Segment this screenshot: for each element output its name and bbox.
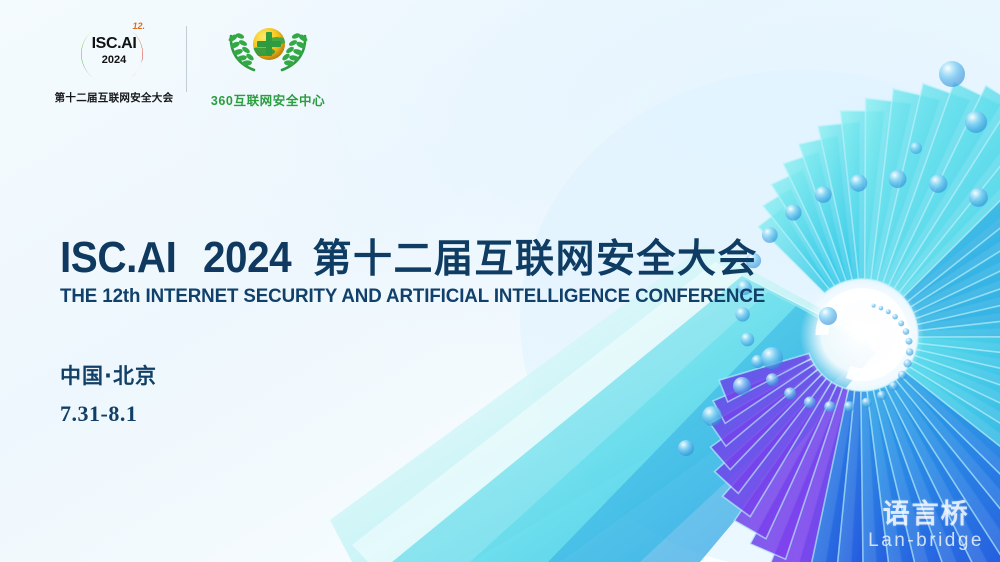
headline-subtitle-en: THE 12th INTERNET SECURITY AND ARTIFICIA…	[60, 285, 765, 308]
event-location: 中国·北京	[60, 366, 157, 387]
isc-logo-superscript: 12.	[132, 22, 145, 31]
isc-logo: ISC.AI 2024 12. 第十二届互联网安全大会	[58, 22, 170, 105]
bubble	[879, 306, 884, 311]
bubble	[824, 401, 835, 412]
headline-year: 2024	[203, 236, 291, 280]
event-meta-block: 中国·北京 7.31-8.1	[60, 366, 157, 425]
bubble	[735, 307, 749, 321]
bubble	[898, 320, 904, 326]
isc-logo-year: 2024	[77, 55, 151, 66]
event-dates: 7.31-8.1	[60, 403, 157, 425]
bubble	[889, 381, 898, 390]
cross-icon-horizontal	[257, 41, 281, 47]
bubble	[886, 309, 891, 314]
bubble	[903, 328, 910, 335]
bubble	[872, 304, 876, 308]
headline-brand: ISC.AI	[60, 236, 176, 280]
partner-logo-caption: 360互联网安全中心	[211, 90, 325, 109]
bubble	[850, 174, 867, 191]
headline-title-cn: 第十二届互联网安全大会	[312, 240, 758, 279]
bubble	[862, 398, 872, 408]
headline-block: ISC.AI 2024 第十二届互联网安全大会 THE 12th INTERNE…	[60, 236, 795, 308]
bubble	[892, 314, 898, 320]
isc-logo-wordmark: ISC.AI	[77, 36, 151, 52]
logo-divider	[186, 26, 187, 92]
bubble	[904, 359, 912, 367]
bubble	[929, 175, 947, 193]
isc-logo-caption: 第十二届互联网安全大会	[55, 90, 174, 105]
isc-logo-mark: ISC.AI 2024 12.	[77, 22, 151, 86]
bubble	[898, 371, 907, 380]
poster-canvas: ISC.AI 2024 12. 第十二届互联网安全大会	[0, 0, 1000, 562]
partner-logo-mark	[222, 22, 314, 86]
bubble	[844, 401, 855, 412]
bubble	[906, 338, 913, 345]
bubble	[906, 348, 914, 356]
partner-logo: 360互联网安全中心	[203, 22, 333, 109]
bubble	[784, 387, 796, 399]
bubble	[877, 391, 887, 401]
bubble	[804, 397, 816, 409]
bubble	[815, 186, 832, 203]
logo-bar: ISC.AI 2024 12. 第十二届互联网安全大会	[58, 22, 333, 109]
bubble	[785, 204, 801, 220]
title-row: ISC.AI 2024 第十二届互联网安全大会	[60, 236, 795, 280]
bubble	[766, 373, 779, 386]
bubble	[889, 170, 907, 188]
bubble	[741, 333, 755, 347]
bubble	[969, 188, 988, 207]
